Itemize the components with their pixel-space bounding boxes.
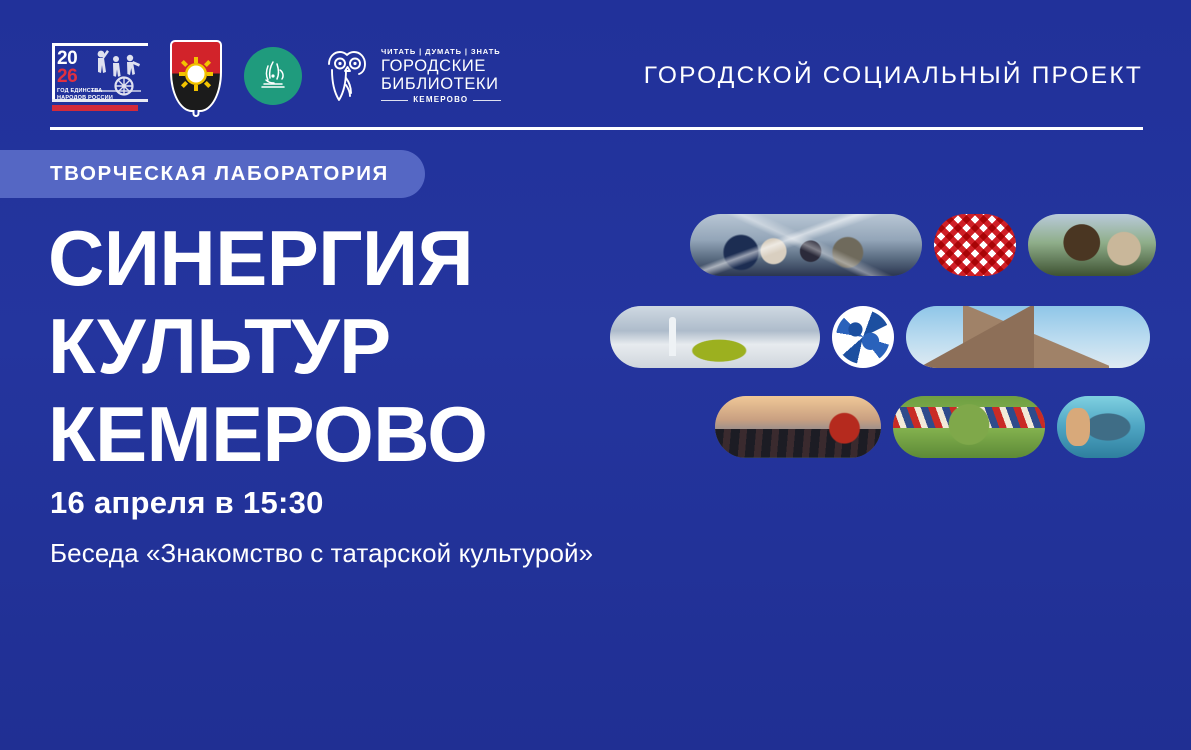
photo-reindeer-herder-portrait	[1028, 214, 1156, 276]
photo-russian-khorovod-dance	[893, 396, 1045, 458]
event-subtitle: Беседа «Знакомство с татарской культурой…	[50, 538, 593, 569]
creative-lab-badge: ТВОРЧЕСКАЯ ЛАБОРАТОРИЯ	[0, 150, 425, 198]
library-tagline: ЧИТАТЬ | ДУМАТЬ | ЗНАТЬ	[381, 48, 501, 56]
collage-row-2	[610, 306, 1150, 368]
unity-year-bottom: 26	[57, 68, 77, 85]
title-line-3: КЕМЕРОВО	[48, 390, 668, 478]
green-emblem-icon	[244, 47, 302, 105]
photo-red-white-folk-ornament	[934, 214, 1016, 276]
poster-root: 20 26 ГОД ЕДИНСТВА НАРОДОВ РОССИИ	[0, 0, 1191, 750]
photo-gzhel-blue-ornament	[832, 306, 894, 368]
photo-mosque-green-dome	[610, 306, 820, 368]
header-divider	[50, 127, 1143, 130]
logo-row: 20 26 ГОД ЕДИНСТВА НАРОДОВ РОССИИ	[50, 37, 501, 115]
project-kicker: ГОРОДСКОЙ СОЦИАЛЬНЫЙ ПРОЕКТ	[644, 62, 1143, 90]
photo-stage-performance	[1057, 396, 1145, 458]
library-rule-right	[473, 100, 500, 101]
green-emblem-glyph	[253, 56, 293, 96]
collage-row-3	[715, 396, 1145, 458]
photo-caucasian-dance-ensemble	[715, 396, 881, 458]
library-name-line2: БИБЛИОТЕКИ	[381, 76, 501, 94]
library-name-line1: ГОРОДСКИЕ	[381, 58, 501, 76]
library-city: КЕМЕРОВО	[413, 96, 468, 104]
library-rule-left	[381, 100, 408, 101]
poster-title: СИНЕРГИЯ КУЛЬТУР КЕМЕРОВО	[48, 214, 668, 478]
kemerovo-coat-of-arms-icon	[170, 40, 222, 112]
creative-lab-badge-label: ТВОРЧЕСКАЯ ЛАБОРАТОРИЯ	[50, 162, 389, 186]
event-date: 16 апреля в 15:30	[50, 485, 324, 521]
unity-year-top: 20	[57, 50, 77, 67]
collage-row-1	[690, 214, 1156, 276]
poster-header: 20 26 ГОД ЕДИНСТВА НАРОДОВ РОССИИ	[50, 34, 1143, 118]
culture-photo-collage	[610, 214, 1150, 476]
title-line-1: СИНЕРГИЯ	[48, 214, 668, 302]
photo-caucasian-folk-costumes	[690, 214, 922, 276]
photo-northern-chum-tents	[906, 306, 1150, 368]
city-libraries-logo: ЧИТАТЬ | ДУМАТЬ | ЗНАТЬ ГОРОДСКИЕ БИБЛИО…	[324, 48, 501, 105]
owl-icon	[324, 48, 372, 104]
title-line-2: КУЛЬТУР	[48, 302, 668, 390]
unity-2026-logo: 20 26 ГОД ЕДИНСТВА НАРОДОВ РОССИИ	[50, 37, 148, 115]
